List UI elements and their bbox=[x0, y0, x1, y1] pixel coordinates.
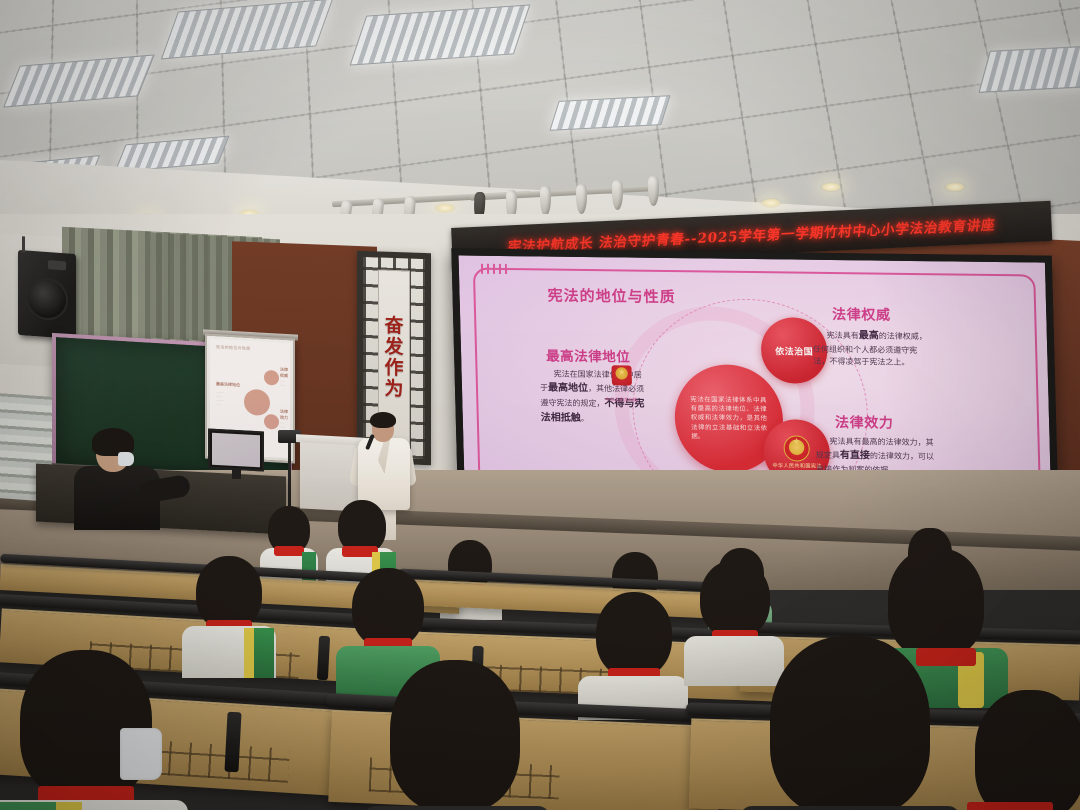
face-mask-icon bbox=[118, 452, 134, 466]
monitor-screen bbox=[212, 433, 260, 468]
speaker-mount bbox=[22, 236, 25, 252]
plaque-char-2: 发 bbox=[384, 338, 403, 358]
projected-slide-title: 宪法的地位与性质 bbox=[216, 344, 250, 352]
plaque-char-1: 奋 bbox=[384, 317, 403, 337]
projected-body-left: ······························· bbox=[216, 391, 242, 408]
plaque-char-4: 为 bbox=[384, 380, 403, 400]
projected-body-r2: ················· bbox=[280, 418, 295, 431]
plaque-char-3: 作 bbox=[384, 359, 403, 379]
downlight bbox=[944, 182, 966, 192]
projected-badge bbox=[264, 370, 279, 386]
downlight bbox=[820, 182, 842, 192]
projected-center-circle bbox=[244, 389, 270, 416]
face-mask-icon bbox=[120, 728, 162, 780]
slide-center-text: 宪法在国家法律体系中具有最高的法律地位、法律权威和法律效力，是其他法律的立法基础… bbox=[690, 395, 767, 442]
slide-title: 宪法的地位与性质 bbox=[547, 285, 676, 308]
downlight bbox=[760, 198, 782, 208]
presenter-hair bbox=[370, 412, 396, 428]
seat-row bbox=[328, 710, 722, 810]
monitor-stand bbox=[232, 469, 241, 479]
slide-body-legal-authority: 宪法具有最高的法律权威，任何组织和个人都必须遵守宪法，不得凌驾于宪法之上。 bbox=[813, 328, 932, 370]
slide-heading-legal-authority: 法律权威 bbox=[832, 304, 891, 325]
seat-divider bbox=[317, 636, 330, 681]
emblem-caption: 中华人民共和国 bbox=[605, 397, 637, 403]
calligraphy-plaque: 奋 发 作 为 bbox=[357, 251, 431, 466]
loudspeaker bbox=[18, 250, 76, 339]
speaker-woofer bbox=[26, 277, 68, 322]
national-emblem-icon bbox=[783, 435, 810, 461]
camera-tripod bbox=[288, 436, 291, 508]
auditorium-photo: 奋 发 作 为 宪法护航成长 法治守护青春--2025学年第一学期竹村中心小学法… bbox=[0, 0, 1080, 810]
badge-rule-of-law-label: 依法治国 bbox=[775, 344, 813, 357]
downlight bbox=[434, 203, 456, 213]
control-monitor bbox=[208, 429, 264, 472]
speaker-tweeter bbox=[48, 260, 66, 270]
badge-constitution-label: 中华人民共和国宪法 bbox=[772, 463, 822, 470]
projected-badge bbox=[264, 414, 279, 430]
national-emblem-icon bbox=[611, 365, 632, 389]
projected-heading-left: 最高法律地位 bbox=[216, 381, 240, 388]
projected-body-r1: ················· bbox=[280, 376, 295, 389]
ceiling-panel-light bbox=[978, 45, 1080, 93]
ceiling-panel-light bbox=[549, 95, 670, 131]
slide-heading-supreme-status: 最高法律地位 bbox=[546, 344, 631, 365]
slide-heading-legal-effect: 法律效力 bbox=[835, 412, 894, 433]
